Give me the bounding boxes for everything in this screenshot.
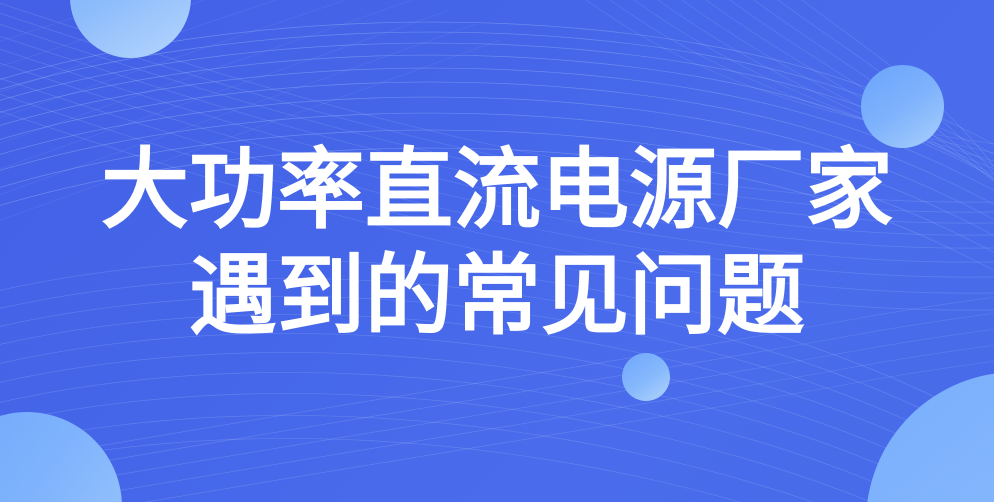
headline-block: 大功率直流电源厂家 遇到的常见问题 [0,0,994,502]
headline-line-2: 遇到的常见问题 [189,241,805,351]
promo-banner: 大功率直流电源厂家 遇到的常见问题 [0,0,994,502]
headline-line-1: 大功率直流电源厂家 [101,135,893,245]
